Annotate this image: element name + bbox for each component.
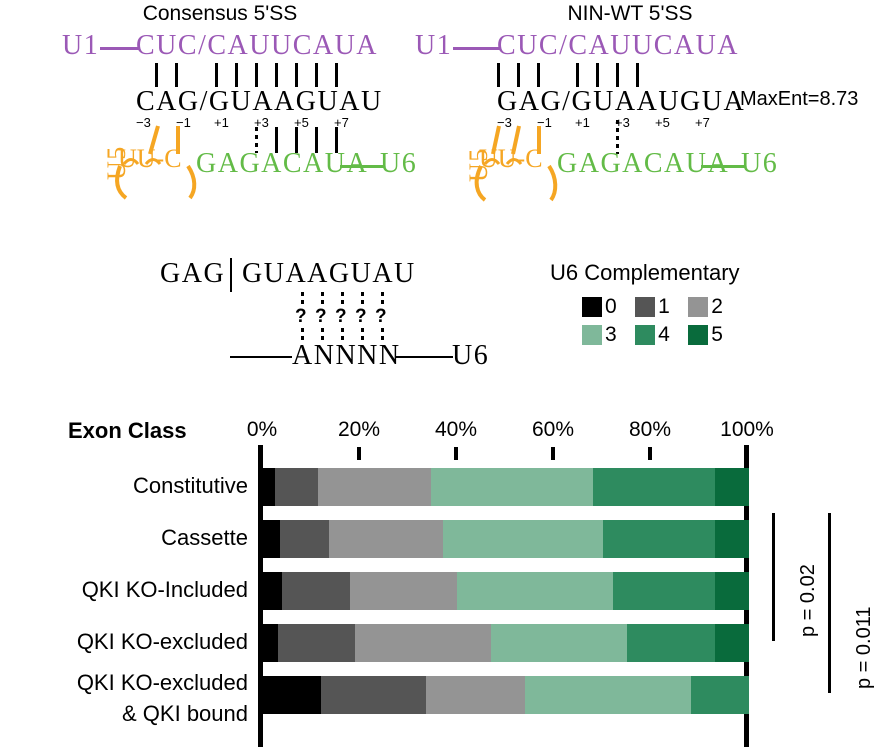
bar-segment-0: [263, 468, 275, 506]
bar-segment-5: [715, 520, 749, 558]
bar-cassette: [263, 520, 749, 558]
panel-title-consensus: Consensus 5'SS: [90, 2, 350, 26]
query-u6-right-connector: [395, 356, 453, 358]
legend-label-4: 4: [658, 323, 670, 346]
significance-label-2: p = 0.011: [853, 607, 876, 689]
u1-sequence-right: CUC/CAUUCAUA: [497, 32, 739, 60]
legend-swatch-1: [635, 297, 655, 317]
bar-segment-1: [282, 572, 350, 610]
splice-site-sequence-right: GAG/GUAAUGUA: [497, 88, 745, 116]
bar-segment-3: [525, 676, 690, 714]
u6-label-left: U6: [380, 150, 417, 178]
bar-segment-2: [350, 572, 457, 610]
u1-connector-left: [100, 47, 140, 50]
bar-segment-1: [278, 624, 356, 662]
consensus-panel: Consensus 5'SS U1 CUC/CAUUCAUA CAG/GUAAG…: [0, 0, 440, 232]
bar-qki-ko-excluded: [263, 624, 749, 662]
bar-segment-0: [263, 624, 278, 662]
xtick-label-100: 100%: [707, 418, 787, 442]
bar-segment-4: [593, 468, 715, 506]
query-schematic: GAG GUAAGUAU ? ? ? ? ? ANNNN U6: [150, 258, 530, 368]
legend-item-2: 2: [688, 295, 723, 319]
bar-segment-4: [603, 520, 715, 558]
legend-label-3: 3: [605, 323, 617, 346]
u1-label-left: U1: [62, 32, 99, 60]
legend-swatch-2: [688, 297, 708, 317]
query-intron-sequence: GUAAGUAU: [242, 260, 416, 288]
bar-segment-2: [426, 676, 526, 714]
bar-qki-ko-included: [263, 572, 749, 610]
bar-segment-2: [318, 468, 431, 506]
bar-segment-2: [355, 624, 491, 662]
legend-label-0: 0: [605, 295, 617, 318]
bar-constitutive: [263, 468, 749, 506]
xtick-label-20: 20%: [319, 418, 399, 442]
legend-swatch-4: [635, 325, 655, 345]
row-label-qki-ko-included: QKI KO-Included: [20, 577, 248, 603]
xtick-mark-20: [357, 447, 361, 460]
bar-segment-3: [491, 624, 627, 662]
row-label-qki-ko-excluded: QKI KO-excluded: [20, 629, 248, 655]
bar-segment-1: [280, 520, 329, 558]
query-u6-label: U6: [452, 342, 489, 370]
significance-label-1: p = 0.02: [797, 564, 820, 637]
legend-item-1: 1: [635, 295, 670, 319]
xtick-mark-80: [648, 447, 652, 460]
bar-segment-5: [715, 468, 749, 506]
bar-segment-0: [263, 520, 280, 558]
legend-item-3: 3: [582, 323, 617, 347]
legend-label-2: 2: [711, 295, 723, 318]
query-u6-sequence: ANNNN: [292, 342, 401, 370]
row-label-cassette: Cassette: [20, 525, 248, 551]
u6-label-right: U6: [741, 150, 778, 178]
query-mark-2: ?: [315, 306, 327, 328]
bar-qki-ko-excluded-bound: [263, 676, 749, 714]
row-label-qki-ko-excluded-bound-line2: & QKI bound: [20, 701, 248, 727]
exon-intron-divider: [230, 258, 232, 292]
bar-segment-3: [443, 520, 603, 558]
xtick-mark-60: [551, 447, 555, 460]
u1-pairing-ticks-left: [136, 63, 366, 87]
bar-segment-1: [275, 468, 318, 506]
xtick-label-40: 40%: [416, 418, 496, 442]
legend: U6 Complementary 0 1 2 3 4 5: [550, 260, 870, 347]
bar-segment-3: [457, 572, 613, 610]
splice-site-sequence-left: CAG/GUAAGUAU: [136, 88, 383, 116]
u1-sequence-left: CUC/CAUUCAUA: [136, 32, 378, 60]
bar-segment-4: [613, 572, 715, 610]
bar-segment-0: [263, 676, 321, 714]
bar-chart: Exon Class 0% 20% 40% 60% 80% 100% Const…: [0, 405, 881, 747]
legend-label-5: 5: [711, 323, 723, 346]
panel-title-nin-wt: NIN-WT 5'SS: [500, 2, 760, 26]
bar-segment-4: [691, 676, 749, 714]
u1-connector-right: [453, 47, 501, 50]
nin-wt-panel: NIN-WT 5'SS U1 CUC/CAUUCAUA GAG/GUAAUGUA…: [440, 0, 881, 232]
query-mark-1: ?: [295, 306, 307, 328]
significance-bracket-2: [828, 513, 831, 693]
row-label-qki-ko-excluded-bound-line1: QKI KO-excluded: [20, 670, 248, 696]
bar-segment-3: [431, 468, 594, 506]
legend-item-4: 4: [635, 323, 670, 347]
xtick-label-0: 0%: [222, 418, 302, 442]
query-mark-5: ?: [375, 306, 387, 328]
legend-swatch-5: [688, 325, 708, 345]
legend-label-1: 1: [658, 295, 670, 318]
row-label-constitutive: Constitutive: [20, 473, 248, 499]
legend-swatch-3: [582, 325, 602, 345]
legend-item-0: 0: [582, 295, 617, 319]
query-pairing-ticks-upper: [242, 292, 442, 306]
u5-label-left: U5: [104, 145, 130, 180]
legend-row-bottom: 3 4 5: [582, 323, 870, 347]
xtick-label-80: 80%: [610, 418, 690, 442]
u6-connector-left: [340, 165, 384, 168]
u5-label-right: U5: [466, 147, 492, 182]
query-mark-4: ?: [355, 306, 367, 328]
u1-pairing-ticks-right: [497, 63, 727, 87]
bar-segment-4: [627, 624, 714, 662]
legend-row-top: 0 1 2: [582, 295, 870, 319]
maxent-score: MaxEnt=8.73: [740, 88, 858, 111]
significance-bracket-1: [772, 513, 775, 641]
xtick-label-60: 60%: [513, 418, 593, 442]
bar-segment-2: [329, 520, 443, 558]
legend-title: U6 Complementary: [550, 260, 870, 286]
u6-connector-right: [701, 165, 745, 168]
legend-swatch-0: [582, 297, 602, 317]
chart-axis-title: Exon Class: [68, 418, 187, 444]
bar-segment-0: [263, 572, 282, 610]
bar-segment-5: [715, 624, 749, 662]
legend-item-5: 5: [688, 323, 723, 347]
xtick-mark-40: [454, 447, 458, 460]
query-exon-sequence: GAG: [160, 260, 225, 288]
query-mark-3: ?: [335, 306, 347, 328]
bar-segment-1: [321, 676, 425, 714]
bar-segment-5: [715, 572, 749, 610]
query-u6-left-connector: [230, 356, 292, 358]
u1-label-right: U1: [415, 32, 452, 60]
